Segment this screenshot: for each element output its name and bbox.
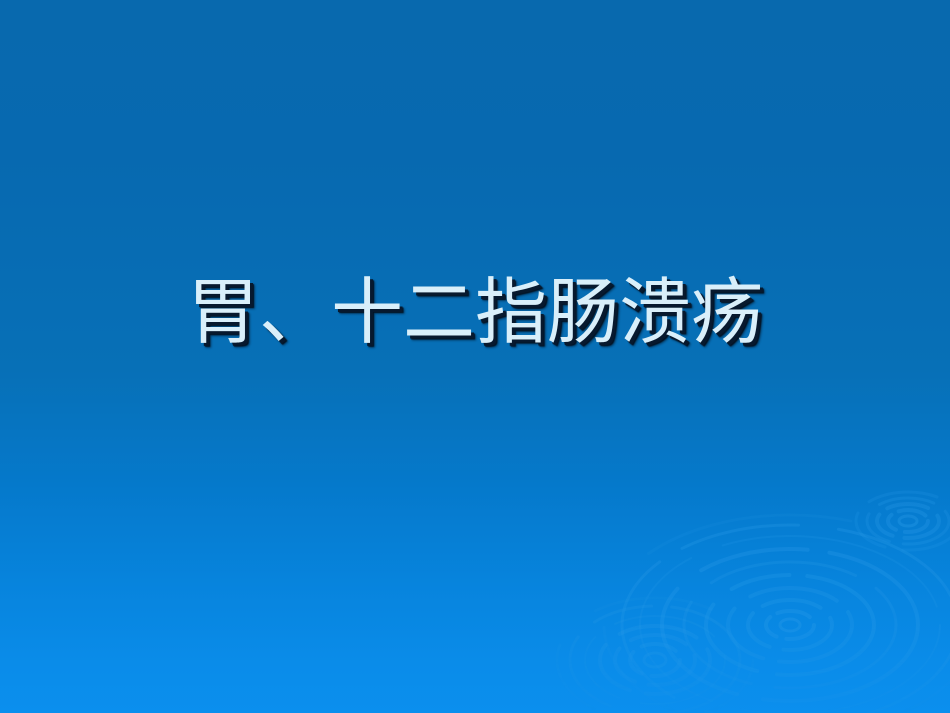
presentation-slide: 胃、十二指肠溃疡 (0, 0, 950, 713)
title-placeholder: 胃、十二指肠溃疡 (0, 0, 950, 713)
page-title: 胃、十二指肠溃疡 (187, 274, 763, 352)
